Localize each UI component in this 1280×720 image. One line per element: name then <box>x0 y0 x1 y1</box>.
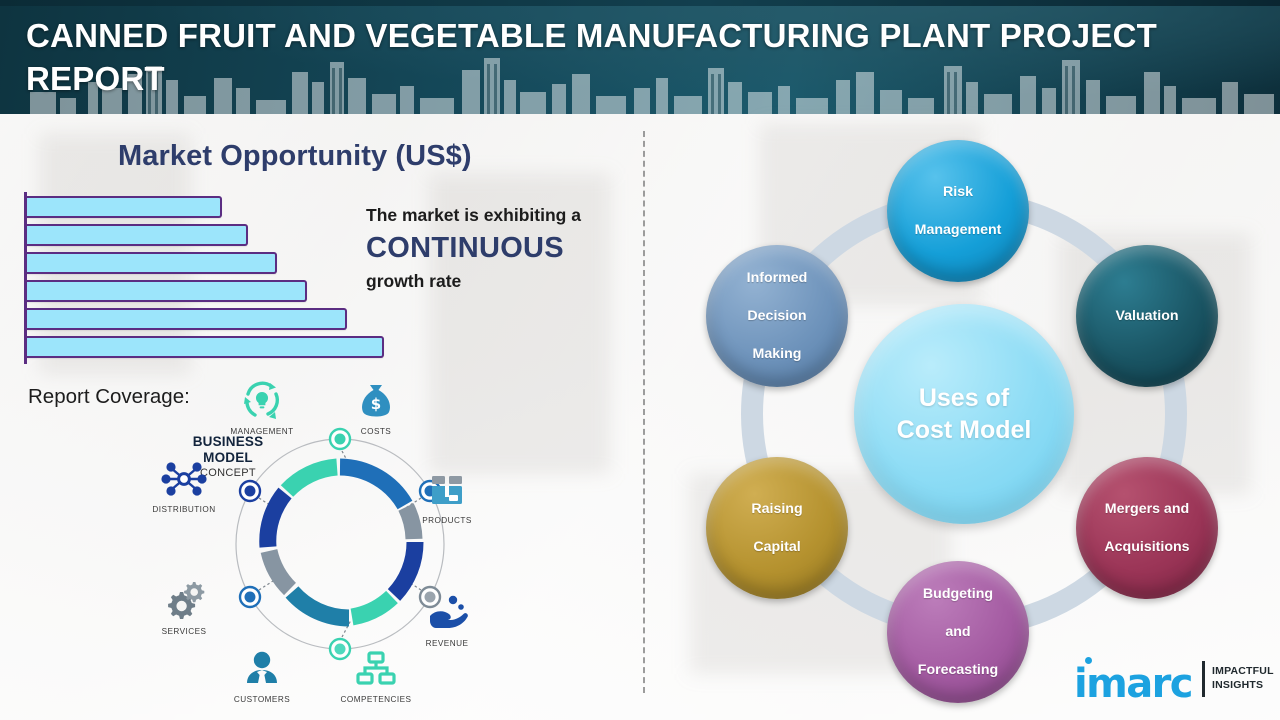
node-label-raising-capital: Raising Capital <box>735 500 818 557</box>
logo-tagline: IMPACTFUL INSIGHTS <box>1212 665 1274 692</box>
network-nodes-icon <box>132 456 236 502</box>
logo-dot-icon <box>1085 657 1092 664</box>
coverage-label-products: PRODUCTS <box>395 516 499 525</box>
center-line-1: Uses of <box>919 384 1009 412</box>
panel-divider <box>643 131 645 693</box>
node-informed-decision-making[interactable]: Informed Decision Making <box>706 245 848 387</box>
coverage-item-competencies[interactable]: COMPETENCIES <box>324 646 428 704</box>
gears-icon <box>132 578 236 624</box>
node-label-informed-decision-making: Informed Decision Making <box>731 269 824 364</box>
node-valuation[interactable]: Valuation <box>1076 245 1218 387</box>
risk-line-2: Management <box>907 221 1010 240</box>
bar-1 <box>27 196 222 218</box>
page-title: CANNED FRUIT AND VEGETABLE MANUFACTURING… <box>26 14 1241 100</box>
callout-line-1: The market is exhibiting a <box>366 203 631 227</box>
hand-coins-icon <box>395 590 499 636</box>
bar-3 <box>27 252 277 274</box>
slide-root: CANNED FRUIT AND VEGETABLE MANUFACTURING… <box>0 0 1280 720</box>
money-bag-icon: $ <box>324 378 428 424</box>
bar-4 <box>27 280 307 302</box>
header-top-strip <box>0 0 1280 6</box>
idm-line-2: Decision <box>739 307 816 326</box>
market-growth-callout: The market is exhibiting a CONTINUOUS gr… <box>366 203 631 293</box>
node-mergers-and-acquisitions[interactable]: Mergers and Acquisitions <box>1076 457 1218 599</box>
cap-line-1: Raising <box>743 500 810 519</box>
bar-2 <box>27 224 248 246</box>
coverage-item-management[interactable]: MANAGEMENT <box>210 378 314 436</box>
org-chart-icon <box>324 646 428 692</box>
logo-divider-rule <box>1202 661 1205 697</box>
package-box-icon <box>395 467 499 513</box>
svg-text:$: $ <box>371 395 381 413</box>
node-label-valuation: Valuation <box>1107 307 1186 326</box>
coverage-item-revenue[interactable]: REVENUE <box>395 590 499 648</box>
bar-6 <box>27 336 384 358</box>
coverage-label-competencies: COMPETENCIES <box>324 695 428 704</box>
person-user-icon <box>210 646 314 692</box>
callout-emphasis: CONTINUOUS <box>366 227 631 269</box>
center-line-2: Cost Model <box>897 416 1032 444</box>
imarc-logo[interactable]: imarc IMPACTFUL INSIGHTS <box>1074 657 1274 705</box>
coverage-item-costs[interactable]: $ COSTS <box>324 378 428 436</box>
logo-tagline-line-2: INSIGHTS <box>1212 679 1263 691</box>
node-label-risk-management: Risk Management <box>899 183 1018 240</box>
node-label-budgeting-and-forecasting: Budgeting and Forecasting <box>902 585 1014 680</box>
coverage-item-services[interactable]: SERVICES <box>132 578 236 636</box>
logo-wordmark: imarc <box>1074 661 1192 707</box>
coverage-label-services: SERVICES <box>132 627 236 636</box>
uses-of-cost-model-diagram: Uses of Cost Model Risk Management Valua… <box>680 124 1280 720</box>
coverage-label-customers: CUSTOMERS <box>210 695 314 704</box>
mna-line-1: Mergers and <box>1096 500 1197 519</box>
bud-line-3: Forecasting <box>910 661 1006 680</box>
idm-line-1: Informed <box>739 269 816 288</box>
node-label-mergers-and-acquisitions: Mergers and Acquisitions <box>1088 500 1205 557</box>
market-opportunity-bar-chart <box>24 192 424 364</box>
callout-line-3: growth rate <box>366 269 631 293</box>
node-raising-capital[interactable]: Raising Capital <box>706 457 848 599</box>
business-model-diagram: BUSINESS MODEL CONCEPT <box>140 378 540 700</box>
market-opportunity-title: Market Opportunity (US$) <box>118 140 472 173</box>
coverage-label-management: MANAGEMENT <box>210 427 314 436</box>
logo-tagline-line-1: IMPACTFUL <box>1212 665 1274 677</box>
idm-line-3: Making <box>739 345 816 364</box>
header-banner: CANNED FRUIT AND VEGETABLE MANUFACTURING… <box>0 0 1280 114</box>
bud-line-2: and <box>910 623 1006 642</box>
coverage-item-distribution[interactable]: DISTRIBUTION <box>132 456 236 514</box>
coverage-item-products[interactable]: PRODUCTS <box>395 467 499 525</box>
node-budgeting-and-forecasting[interactable]: Budgeting and Forecasting <box>887 561 1029 703</box>
risk-line-1: Risk <box>907 183 1010 202</box>
cap-line-2: Capital <box>743 538 810 557</box>
coverage-label-distribution: DISTRIBUTION <box>132 505 236 514</box>
center-node-label: Uses of Cost Model <box>897 382 1032 446</box>
bm-line-1: BUSINESS <box>140 434 316 450</box>
center-node-uses-of-cost-model[interactable]: Uses of Cost Model <box>854 304 1074 524</box>
coverage-label-costs: COSTS <box>324 427 428 436</box>
mna-line-2: Acquisitions <box>1096 538 1197 557</box>
node-risk-management[interactable]: Risk Management <box>887 140 1029 282</box>
lightbulb-cycle-icon <box>210 378 314 424</box>
coverage-item-customers[interactable]: CUSTOMERS <box>210 646 314 704</box>
bud-line-1: Budgeting <box>910 585 1006 604</box>
bar-5 <box>27 308 347 330</box>
